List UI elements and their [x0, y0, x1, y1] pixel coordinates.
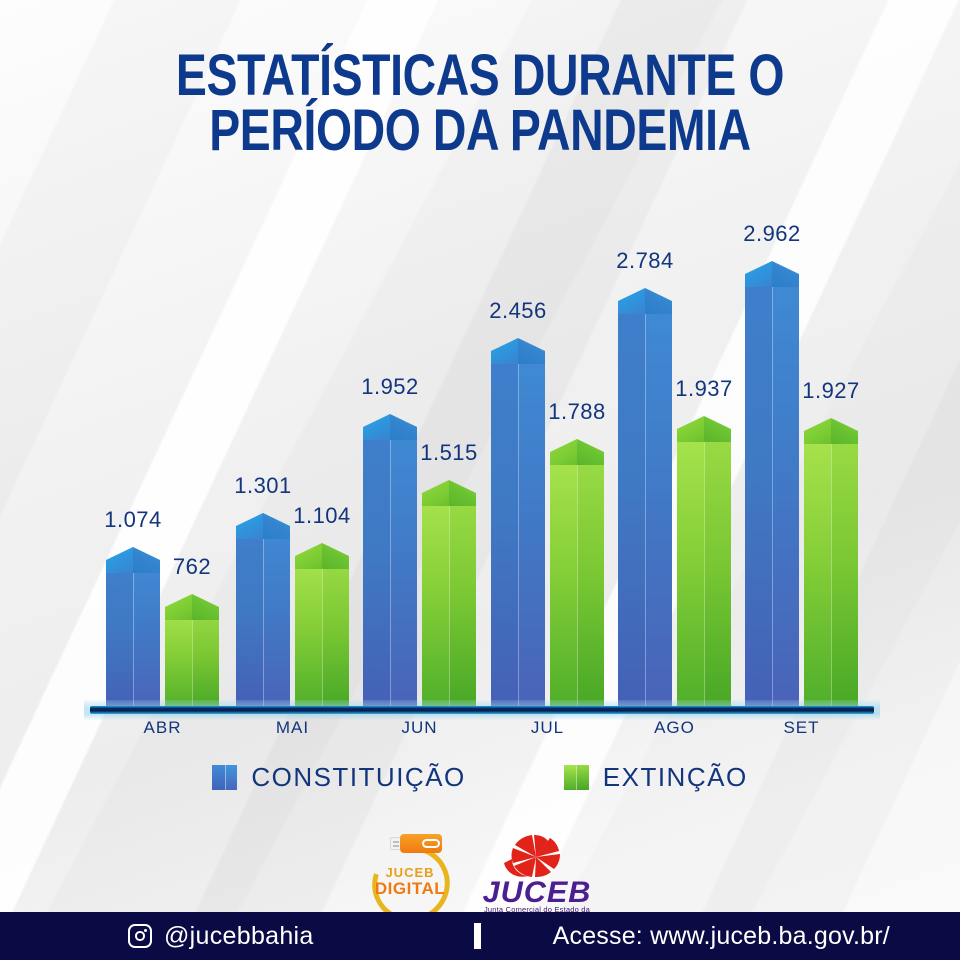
cap-right [192, 594, 219, 620]
bar-right-face [518, 351, 545, 710]
cap-left [745, 261, 772, 287]
bar-top-cap [422, 480, 476, 506]
legend-label: EXTINÇÃO [603, 762, 748, 793]
value-label: 1.952 [361, 374, 419, 400]
footer-bar: @jucebbahia Acesse: www.juceb.ba.gov.br/ [0, 912, 960, 960]
bar-set-constituicao: 2.962 [745, 261, 799, 710]
bar-top-cap [677, 416, 731, 442]
bar-top-cap [295, 543, 349, 569]
usb-body [400, 834, 442, 853]
bar-body [295, 556, 349, 710]
bar-mai-extincao: 1.104 [295, 543, 349, 710]
bar-set-extincao: 1.927 [804, 418, 858, 710]
cap-right [831, 418, 858, 444]
juceb-logo: JUCEB Junta Comercial do Estado da Bahia [478, 832, 596, 916]
bar-right-face [192, 607, 219, 710]
cap-left [677, 416, 704, 442]
bar-body [618, 301, 672, 710]
cap-right [577, 439, 604, 465]
instagram-handle[interactable]: @jucebbahia [164, 922, 314, 951]
bar-body [804, 431, 858, 710]
juceb-fan-icon [498, 833, 576, 879]
cap-left [804, 418, 831, 444]
value-label: 2.962 [743, 221, 801, 247]
legend-swatch-green [564, 765, 589, 790]
bar-top-cap [618, 288, 672, 314]
title-line-2: PERÍODO DA PANDEMIA [96, 103, 864, 158]
logo-row: JUCEB DIGITAL JUCEB Junta Comercial do E… [0, 828, 960, 920]
value-label: 762 [173, 554, 211, 580]
legend-swatch-blue [212, 765, 237, 790]
x-axis-label-set: SET [732, 718, 872, 738]
bar-left-face [618, 301, 645, 710]
cap-left [618, 288, 645, 314]
usb-drive-icon [390, 834, 442, 853]
bar-body [165, 607, 219, 710]
chart-legend: CONSTITUIÇÃOEXTINÇÃO [0, 762, 960, 793]
cap-left [363, 414, 390, 440]
bar-body [236, 526, 290, 710]
bar-jul-extincao: 1.788 [550, 439, 604, 710]
title-line-1: ESTATÍSTICAS DURANTE O [96, 48, 864, 103]
bar-left-face [363, 427, 390, 710]
x-axis-label-mai: MAI [223, 718, 363, 738]
digital-logo-text: JUCEB DIGITAL [364, 866, 456, 897]
cap-right [322, 543, 349, 569]
cap-right [449, 480, 476, 506]
x-axis-label-ago: AGO [605, 718, 745, 738]
bar-mai-constituicao: 1.301 [236, 513, 290, 710]
cap-right [133, 547, 160, 573]
website-link[interactable]: Acesse: www.juceb.ba.gov.br/ [553, 922, 890, 951]
cap-left [165, 594, 192, 620]
cap-right [704, 416, 731, 442]
legend-label: CONSTITUIÇÃO [251, 762, 465, 793]
bar-top-cap [363, 414, 417, 440]
bar-abr-constituicao: 1.074 [106, 547, 160, 710]
bar-left-face [165, 607, 192, 710]
bar-abr-extincao: 762 [165, 594, 219, 710]
usb-mark [422, 839, 440, 848]
cap-right [263, 513, 290, 539]
bar-top-cap [804, 418, 858, 444]
cap-left [295, 543, 322, 569]
infographic-poster: ESTATÍSTICAS DURANTE O PERÍODO DA PANDEM… [0, 0, 960, 960]
value-label: 1.788 [548, 399, 606, 425]
x-axis-label-abr: ABR [93, 718, 233, 738]
legend-item-extincao: EXTINÇÃO [564, 762, 748, 793]
bar-right-face [577, 452, 604, 710]
bar-body [677, 429, 731, 710]
instagram-icon[interactable] [128, 924, 152, 948]
bar-body [491, 351, 545, 710]
bar-jun-constituicao: 1.952 [363, 414, 417, 710]
bar-ago-extincao: 1.937 [677, 416, 731, 710]
cap-left [550, 439, 577, 465]
bar-right-face [645, 301, 672, 710]
bar-left-face [677, 429, 704, 710]
cap-right [645, 288, 672, 314]
bar-right-face [263, 526, 290, 710]
bar-top-cap [550, 439, 604, 465]
bar-left-face [745, 274, 772, 710]
cap-left [236, 513, 263, 539]
cap-right [390, 414, 417, 440]
bar-left-face [236, 526, 263, 710]
bar-body [363, 427, 417, 710]
cap-right [518, 338, 545, 364]
bar-left-face [422, 493, 449, 710]
juceb-digital-logo: JUCEB DIGITAL [364, 832, 456, 916]
bar-ago-constituicao: 2.784 [618, 288, 672, 710]
page-title: ESTATÍSTICAS DURANTE O PERÍODO DA PANDEM… [96, 48, 864, 158]
bar-right-face [322, 556, 349, 710]
value-label: 1.937 [675, 376, 733, 402]
cap-left [106, 547, 133, 573]
bar-right-face [133, 560, 160, 710]
bar-body [422, 493, 476, 710]
bar-body [106, 560, 160, 710]
bar-left-face [804, 431, 831, 710]
legend-item-constituicao: CONSTITUIÇÃO [212, 762, 465, 793]
value-label: 1.074 [104, 507, 162, 533]
bar-left-face [550, 452, 577, 710]
bar-right-face [704, 429, 731, 710]
value-label: 1.515 [420, 440, 478, 466]
bar-top-cap [236, 513, 290, 539]
value-label: 1.927 [802, 378, 860, 404]
bar-left-face [295, 556, 322, 710]
swatch-left [564, 765, 577, 790]
bar-left-face [106, 560, 133, 710]
bar-top-cap [106, 547, 160, 573]
bar-right-face [449, 493, 476, 710]
swatch-left [212, 765, 225, 790]
bar-top-cap [165, 594, 219, 620]
x-axis-label-jul: JUL [478, 718, 618, 738]
bar-left-face [491, 351, 518, 710]
bar-jun-extincao: 1.515 [422, 480, 476, 710]
value-label: 1.104 [293, 503, 351, 529]
digital-logo-line1: JUCEB [364, 866, 456, 880]
bar-jul-constituicao: 2.456 [491, 338, 545, 710]
baseline-core [90, 706, 874, 714]
digital-logo-line2: DIGITAL [364, 880, 456, 898]
footer-social[interactable]: @jucebbahia [128, 922, 314, 951]
swatch-right [576, 765, 589, 790]
value-label: 1.301 [234, 473, 292, 499]
bar-body [550, 452, 604, 710]
chart-baseline [84, 700, 880, 720]
bar-body [745, 274, 799, 710]
bar-top-cap [491, 338, 545, 364]
value-label: 2.784 [616, 248, 674, 274]
cap-left [422, 480, 449, 506]
cap-right [772, 261, 799, 287]
footer-divider [474, 923, 481, 949]
cap-left [491, 338, 518, 364]
bar-right-face [390, 427, 417, 710]
bar-right-face [831, 431, 858, 710]
x-axis-label-jun: JUN [350, 718, 490, 738]
swatch-right [225, 765, 238, 790]
bar-right-face [772, 274, 799, 710]
bar-top-cap [745, 261, 799, 287]
value-label: 2.456 [489, 298, 547, 324]
bar-chart-plot-area: 1.0747621.3011.1041.9521.5152.4561.7882.… [0, 200, 960, 710]
